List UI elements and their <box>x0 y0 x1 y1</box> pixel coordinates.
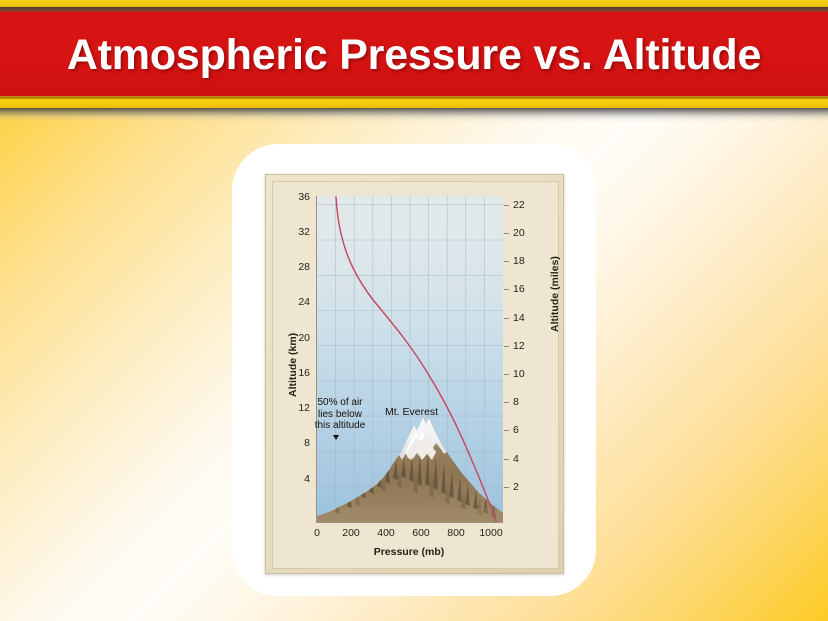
right-tickmark-6 <box>504 430 509 431</box>
right-tickmark-10 <box>504 374 509 375</box>
bottom-tick-0: 0 <box>300 527 334 539</box>
right-tick-2: 2 <box>513 481 539 493</box>
bottom-tick-600: 600 <box>404 527 438 539</box>
right-tick-6: 6 <box>513 424 539 436</box>
right-tick-14: 14 <box>513 312 539 324</box>
chart-figure-inner: 36 32 28 24 20 16 12 8 4 22 20 18 16 <box>272 181 559 569</box>
right-tickmark-16 <box>504 289 509 290</box>
header-top-gold-stripe <box>0 0 828 7</box>
right-tickmark-8 <box>504 402 509 403</box>
right-tick-16: 16 <box>513 283 539 295</box>
right-tick-10: 10 <box>513 368 539 380</box>
half-air-down-arrow-icon <box>333 435 339 440</box>
right-tickmark-4 <box>504 459 509 460</box>
right-tickmark-14 <box>504 318 509 319</box>
header-drop-shadow <box>0 108 828 122</box>
left-tick-32: 32 <box>284 226 310 238</box>
right-tick-18: 18 <box>513 255 539 267</box>
half-air-line-3: this altitude <box>291 420 389 432</box>
right-tickmark-18 <box>504 261 509 262</box>
header-bottom-gold-stripe <box>0 99 828 108</box>
right-axis-title: Altitude (miles) <box>549 256 561 332</box>
left-tick-36: 36 <box>284 191 310 203</box>
chart-figure-frame: 36 32 28 24 20 16 12 8 4 22 20 18 16 <box>265 174 564 574</box>
right-tick-22: 22 <box>513 199 539 211</box>
half-air-line-1: 50% of air <box>291 397 389 409</box>
half-air-annotation: 50% of air lies below this altitude <box>291 397 389 432</box>
chart-plot-area <box>316 196 503 523</box>
right-tickmark-12 <box>504 346 509 347</box>
left-tick-8: 8 <box>284 437 310 449</box>
right-tick-4: 4 <box>513 453 539 465</box>
right-tickmark-20 <box>504 233 509 234</box>
bottom-tick-1000: 1000 <box>474 527 508 539</box>
left-axis-title: Altitude (km) <box>287 333 299 397</box>
pressure-altitude-curve <box>317 196 503 522</box>
right-tick-12: 12 <box>513 340 539 352</box>
right-tick-20: 20 <box>513 227 539 239</box>
half-air-line-2: lies below <box>291 409 389 421</box>
right-tickmark-2 <box>504 487 509 488</box>
left-tick-28: 28 <box>284 261 310 273</box>
bottom-axis-title: Pressure (mb) <box>316 546 502 558</box>
bottom-tick-200: 200 <box>334 527 368 539</box>
bottom-tick-800: 800 <box>439 527 473 539</box>
left-tick-4: 4 <box>284 473 310 485</box>
mount-everest-label: Mt. Everest <box>385 406 438 418</box>
bottom-tick-400: 400 <box>369 527 403 539</box>
slide-canvas: Atmospheric Pressure vs. Altitude <box>0 0 828 621</box>
slide-title: Atmospheric Pressure vs. Altitude <box>0 20 828 90</box>
left-tick-24: 24 <box>284 296 310 308</box>
right-tickmark-22 <box>504 205 509 206</box>
right-tick-8: 8 <box>513 396 539 408</box>
